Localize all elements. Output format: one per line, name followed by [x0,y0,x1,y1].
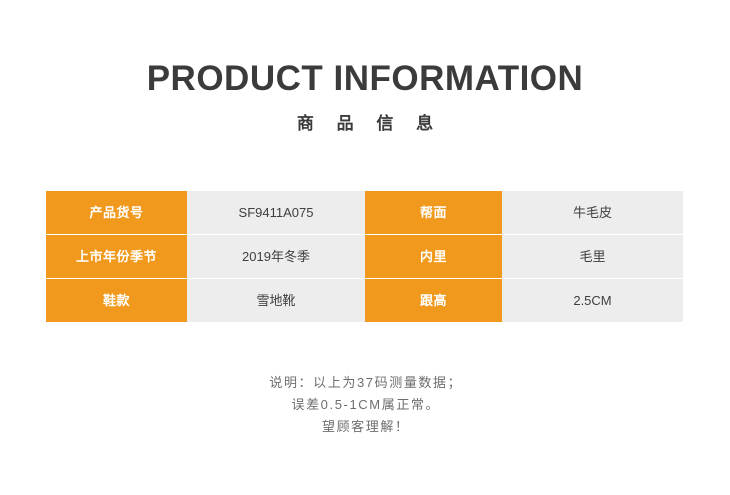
measurement-note: 说明：以上为37码测量数据； 误差0.5-1CM属正常。 望顾客理解！ [0,372,730,438]
specification-table: 产品货号 SF9411A075 帮面 牛毛皮 上市年份季节 2019年冬季 内里… [46,191,683,322]
page-subtitle: 商 品 信 息 [0,112,730,136]
page-header: PRODUCT INFORMATION 商 品 信 息 [0,58,730,136]
product-information-page: PRODUCT INFORMATION 商 品 信 息 产品货号 SF9411A… [0,0,730,495]
spec-label-cell: 上市年份季节 [46,235,187,279]
spec-value-cell: 雪地靴 [187,279,365,323]
spec-value-cell: 毛里 [502,235,683,279]
spec-value-cell: 2.5CM [502,279,683,323]
spec-label-cell: 鞋款 [46,279,187,323]
table-row: 上市年份季节 2019年冬季 内里 毛里 [46,235,683,279]
spec-label-cell: 跟高 [365,279,502,323]
table-row: 产品货号 SF9411A075 帮面 牛毛皮 [46,191,683,235]
spec-label-cell: 产品货号 [46,191,187,235]
page-title: PRODUCT INFORMATION [0,58,730,100]
note-line: 误差0.5-1CM属正常。 [0,394,730,416]
spec-label-cell: 内里 [365,235,502,279]
note-line: 望顾客理解！ [0,416,730,438]
spec-label-cell: 帮面 [365,191,502,235]
note-line: 说明：以上为37码测量数据； [0,372,730,394]
table-row: 鞋款 雪地靴 跟高 2.5CM [46,279,683,323]
spec-value-cell: SF9411A075 [187,191,365,235]
spec-value-cell: 2019年冬季 [187,235,365,279]
spec-value-cell: 牛毛皮 [502,191,683,235]
